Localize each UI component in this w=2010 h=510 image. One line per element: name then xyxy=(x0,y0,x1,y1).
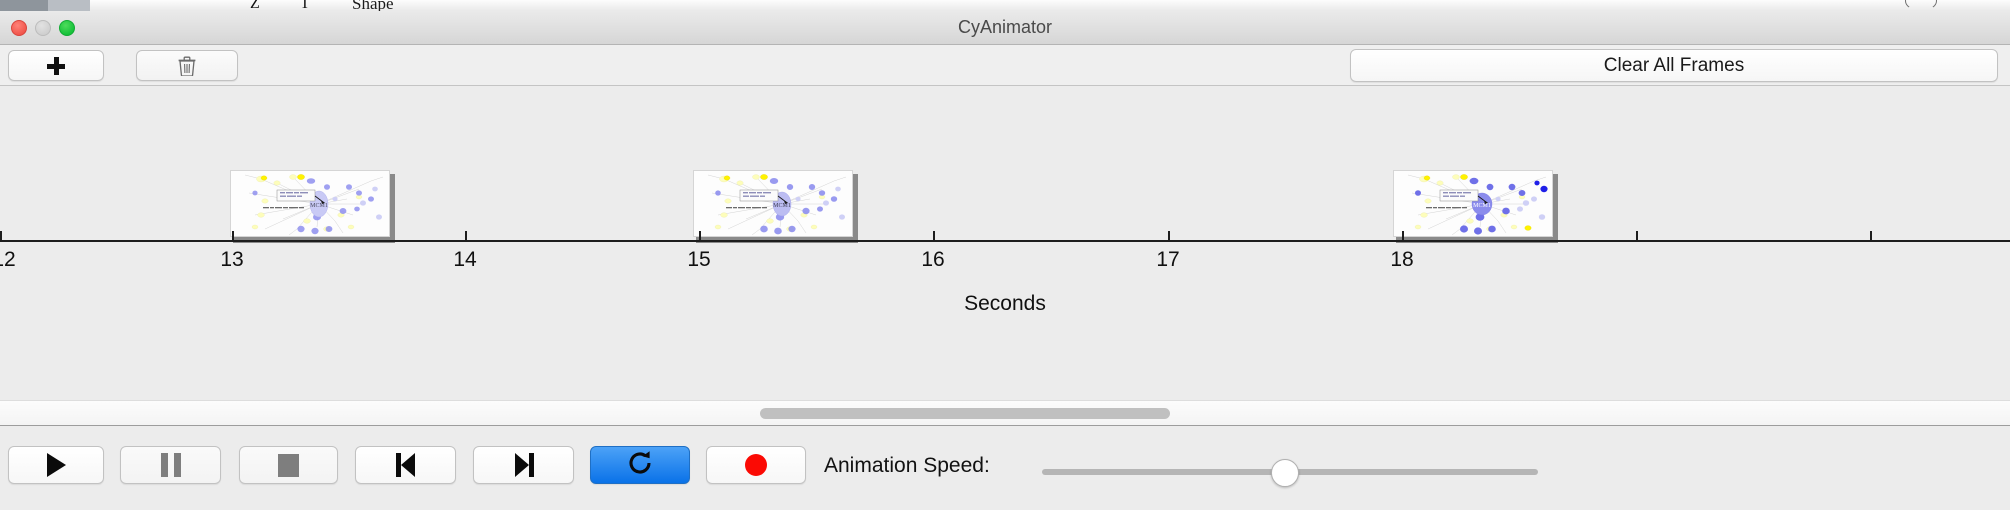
axis-tick xyxy=(232,231,234,242)
stop-button[interactable] xyxy=(239,446,338,484)
axis-tick-label: 13 xyxy=(220,248,243,272)
transport-bar: Animation Speed: xyxy=(0,426,2010,510)
axis-tick-label: 16 xyxy=(921,248,944,272)
background-segment xyxy=(1740,0,2010,11)
pause-icon xyxy=(161,453,181,477)
axis-tick xyxy=(0,231,2,242)
window-titlebar: CyAnimator xyxy=(0,11,2010,45)
axis-tick xyxy=(465,231,467,242)
network-thumbnail: MCM1 xyxy=(693,170,853,237)
skip-to-end-button[interactable] xyxy=(473,446,574,484)
window-title: CyAnimator xyxy=(0,17,2010,38)
background-dark-segment xyxy=(0,0,48,11)
background-segment xyxy=(480,0,681,11)
axis-tick-label: 17 xyxy=(1156,248,1179,272)
background-segment xyxy=(390,0,481,11)
svg-text:MCM1: MCM1 xyxy=(1473,203,1491,209)
background-shape-label: Shape xyxy=(352,0,394,11)
network-thumbnail: MCM1 xyxy=(1393,170,1553,237)
axis-tick xyxy=(1870,231,1872,242)
add-frame-button[interactable] xyxy=(8,50,104,81)
skip-to-start-button[interactable] xyxy=(355,446,456,484)
background-dark-segment-2 xyxy=(48,0,90,11)
background-segment xyxy=(170,0,231,11)
timeline-scrollbar[interactable] xyxy=(0,400,2010,426)
clear-all-frames-button[interactable]: Clear All Frames xyxy=(1350,49,1998,82)
skip-forward-icon xyxy=(513,453,535,477)
background-segment xyxy=(90,0,171,11)
svg-text:MCM1: MCM1 xyxy=(310,203,328,209)
scrollbar-thumb[interactable] xyxy=(760,408,1170,419)
animation-speed-knob[interactable] xyxy=(1271,459,1299,487)
axis-title: Seconds xyxy=(0,292,2010,316)
loop-button[interactable] xyxy=(590,446,690,484)
axis-tick xyxy=(933,231,935,242)
background-segment xyxy=(1040,0,1441,11)
svg-text:MCM1: MCM1 xyxy=(773,203,791,209)
timeline-axis xyxy=(0,240,2010,242)
axis-tick-label: 18 xyxy=(1390,248,1413,272)
axis-tick xyxy=(1168,231,1170,242)
pause-button[interactable] xyxy=(120,446,221,484)
play-button[interactable] xyxy=(8,446,104,484)
network-thumbnail: MCM1 xyxy=(230,170,390,237)
background-segment xyxy=(680,0,861,11)
axis-tick xyxy=(699,231,701,242)
delete-frame-button[interactable] xyxy=(136,50,238,81)
axis-tick-label: 14 xyxy=(453,248,476,272)
record-button[interactable] xyxy=(706,446,806,484)
animation-speed-label: Animation Speed: xyxy=(824,454,990,478)
axis-tick xyxy=(1402,231,1404,242)
record-icon xyxy=(745,454,767,476)
background-segment xyxy=(1440,0,1741,11)
frames-toolbar: Clear All Frames xyxy=(0,45,2010,86)
skip-back-icon xyxy=(395,453,417,477)
stop-icon xyxy=(278,454,299,477)
loop-icon xyxy=(627,450,653,481)
axis-tick-label: 12 xyxy=(0,248,16,272)
keyframe-thumbnail-1[interactable]: MCM1 xyxy=(230,170,392,239)
timeline-panel[interactable]: MCM1 xyxy=(0,86,2010,400)
cyanimator-window: Z T Shape CyAnimator xyxy=(0,0,2010,510)
axis-tick-label: 15 xyxy=(687,248,710,272)
background-app-strip: Z T Shape xyxy=(0,0,2010,11)
trash-icon xyxy=(178,56,196,76)
play-icon xyxy=(47,453,66,477)
background-segment xyxy=(860,0,1041,11)
keyframe-thumbnail-2[interactable]: MCM1 xyxy=(693,170,855,239)
keyframe-thumbnail-3[interactable]: MCM1 xyxy=(1393,170,1555,239)
axis-tick xyxy=(1636,231,1638,242)
plus-icon xyxy=(47,57,65,75)
